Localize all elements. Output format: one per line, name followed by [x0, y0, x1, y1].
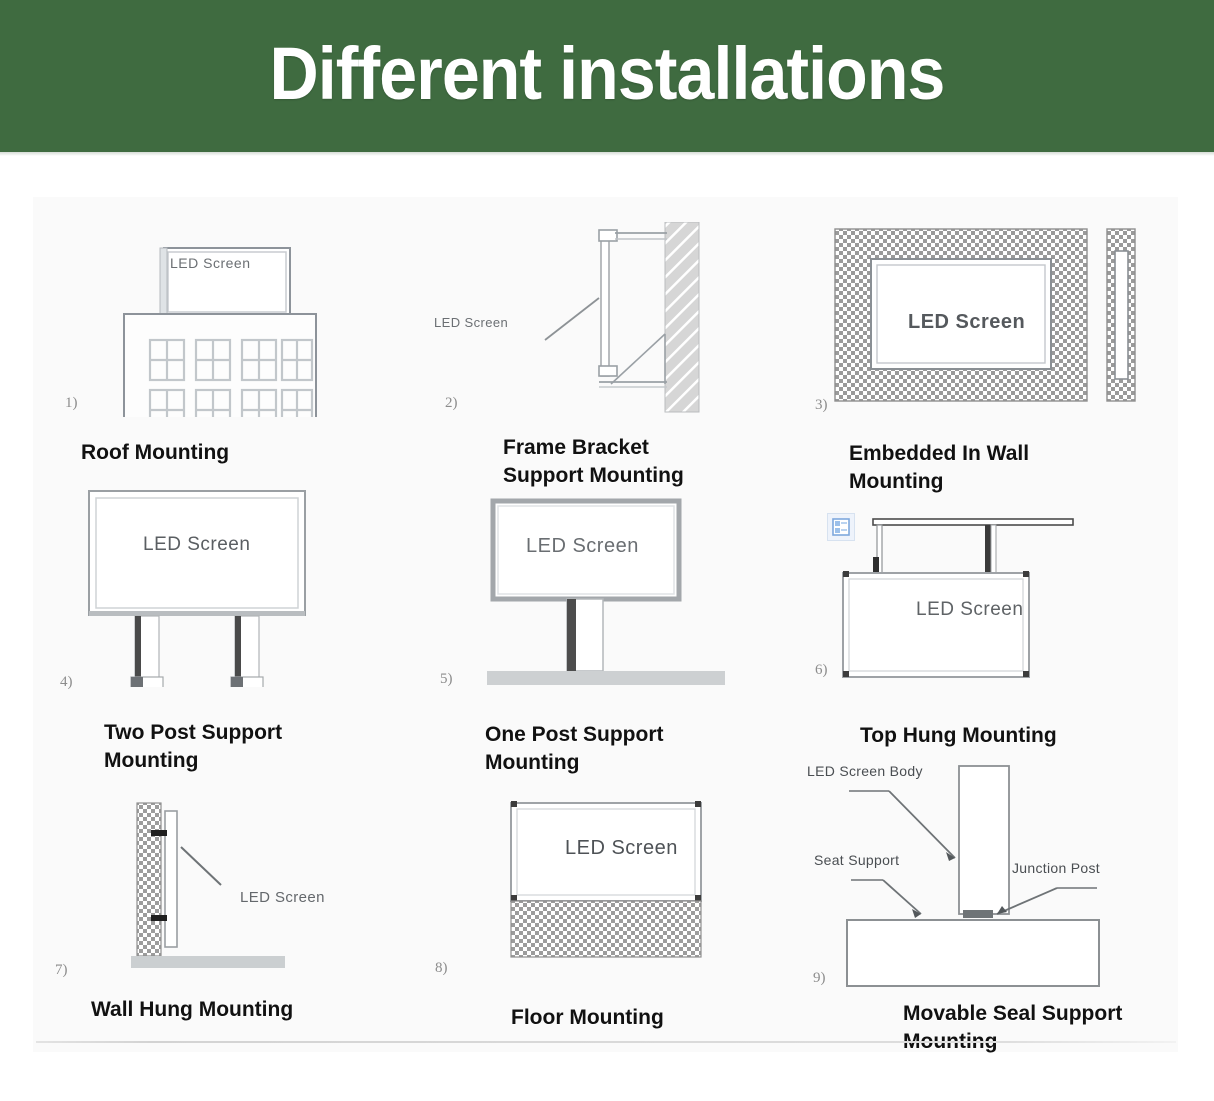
panel-caption-8: Floor Mounting [511, 1004, 664, 1032]
panel-number-2: 2) [445, 395, 458, 412]
led-screen-label: LED Screen [143, 534, 250, 556]
panel-movable-seal-support-mounting: LED Screen Body Seat Support Junction Po… [797, 752, 1181, 1057]
panel-number-5: 5) [440, 671, 453, 688]
installations-grid: LED Screen 1) Roof Mounting [33, 197, 1181, 1057]
panel-two-post-support-mounting: LED Screen 4) Two Post Support Mounting [33, 487, 415, 777]
one-post-figure [487, 497, 737, 687]
movable-seal-figure [807, 762, 1147, 1007]
page-header: Different installations [0, 0, 1214, 152]
panel-number-3: 3) [815, 397, 828, 414]
header-underline [0, 152, 1214, 156]
led-screen-label: LED Screen [170, 255, 250, 271]
panel-number-7: 7) [55, 962, 68, 979]
panel-caption-9: Movable Seal Support Mounting [903, 1000, 1122, 1056]
led-screen-label: LED Screen [565, 837, 678, 860]
panel-one-post-support-mounting: LED Screen 5) One Post Support Mounting [415, 487, 797, 777]
broken-image-icon [827, 513, 855, 541]
page-title: Different installations [49, 0, 1166, 152]
panel-number-4: 4) [60, 674, 73, 691]
led-screen-label: LED Screen [526, 535, 639, 558]
panel-number-9: 9) [813, 970, 826, 987]
panel-number-6: 6) [815, 662, 828, 679]
panel-number-8: 8) [435, 960, 448, 977]
led-screen-label: LED Screen [434, 315, 508, 330]
callout-junction-post: Junction Post [1012, 860, 1100, 876]
roof-mounting-figure [68, 222, 318, 417]
two-post-figure [83, 487, 343, 687]
panel-number-1: 1) [65, 395, 78, 412]
frame-bracket-figure [515, 222, 735, 417]
panel-embedded-in-wall-mounting: LED Screen 3) Embedded In Wall Mounting [797, 197, 1181, 487]
floor-mounting-figure [507, 799, 737, 984]
led-screen-label: LED Screen [916, 599, 1023, 621]
panel-frame-bracket-support-mounting: LED Screen 2) Frame Bracket Support Moun… [415, 197, 797, 487]
panel-roof-mounting: LED Screen 1) Roof Mounting [33, 197, 415, 487]
callout-led-screen-body: LED Screen Body [807, 763, 923, 779]
panel-caption-5: One Post Support Mounting [485, 721, 664, 777]
bottom-divider [36, 1041, 1176, 1043]
panel-floor-mounting: LED Screen 8) Floor Mounting [415, 777, 797, 1057]
panel-top-hung-mounting: LED Screen 6) Top Hung Mounting [797, 487, 1181, 777]
panel-wall-hung-mounting: LED Screen 7) Wall Hung Mounting [33, 777, 415, 1057]
panel-caption-2: Frame Bracket Support Mounting [503, 434, 684, 490]
panel-caption-1: Roof Mounting [81, 439, 229, 467]
panel-caption-4: Two Post Support Mounting [104, 719, 282, 775]
led-screen-label: LED Screen [240, 889, 325, 906]
led-screen-label: LED Screen [908, 311, 1025, 334]
panel-caption-6: Top Hung Mounting [860, 722, 1057, 750]
callout-seat-support: Seat Support [814, 852, 899, 868]
panel-caption-7: Wall Hung Mounting [91, 996, 293, 1024]
